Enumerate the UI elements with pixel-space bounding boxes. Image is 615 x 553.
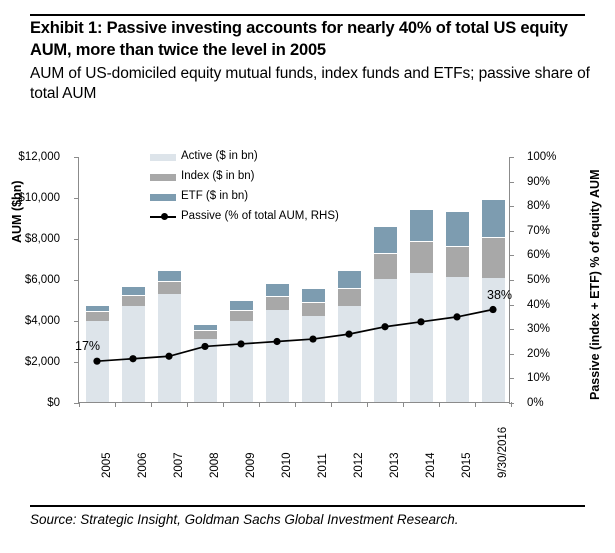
passive-line-marker[interactable] xyxy=(381,323,388,330)
y-axis-right: 100%90%80%70%60%50%40%30%20%10%0% xyxy=(517,157,577,403)
passive-value-label: 17% xyxy=(75,339,100,353)
x-axis-tick xyxy=(511,402,512,407)
passive-line-series xyxy=(79,157,511,403)
x-axis-tick-label: 2005 xyxy=(101,452,113,478)
exhibit-figure: Exhibit 1: Passive investing accounts fo… xyxy=(0,0,615,553)
passive-value-label: 38% xyxy=(487,288,512,302)
y-axis-right-title: Passive (index + ETF) % of equity AUM xyxy=(588,170,602,401)
plot-area: 17%38% xyxy=(78,157,510,403)
source-note: Source: Strategic Insight, Goldman Sachs… xyxy=(30,512,458,527)
x-axis-tick-label: 2013 xyxy=(389,452,401,478)
y-axis-right-tick xyxy=(509,305,514,306)
x-axis-tick-label: 2010 xyxy=(281,452,293,478)
y-axis-right-tick-label: 90% xyxy=(527,176,550,188)
passive-line-marker[interactable] xyxy=(129,355,136,362)
y-axis-left-tick-label: $6,000 xyxy=(25,274,60,286)
passive-line-marker[interactable] xyxy=(93,358,100,365)
legend-label: ETF ($ in bn) xyxy=(181,188,248,205)
legend-label: Passive (% of total AUM, RHS) xyxy=(181,208,339,225)
y-axis-right-tick-label: 30% xyxy=(527,323,550,335)
x-axis-tick-label: 2011 xyxy=(317,453,329,478)
y-axis-right-tick-label: 20% xyxy=(527,348,550,360)
y-axis-left-tick xyxy=(74,321,79,322)
legend-swatch-icon xyxy=(150,174,176,181)
passive-line-marker[interactable] xyxy=(201,343,208,350)
y-axis-left-tick xyxy=(74,157,79,158)
x-axis-tick-label: 2015 xyxy=(461,452,473,478)
y-axis-left-tick-label: $2,000 xyxy=(25,356,60,368)
legend-label: Index ($ in bn) xyxy=(181,168,255,185)
x-axis-tick-label: 2009 xyxy=(245,452,257,478)
y-axis-left-tick-label: $0 xyxy=(47,397,60,409)
y-axis-right-tick-label: 10% xyxy=(527,372,550,384)
passive-line-marker[interactable] xyxy=(165,353,172,360)
legend-dot-icon xyxy=(161,213,168,220)
y-axis-right-tick-label: 60% xyxy=(527,249,550,261)
passive-line-marker[interactable] xyxy=(309,335,316,342)
passive-line-marker[interactable] xyxy=(237,340,244,347)
y-axis-right-tick xyxy=(509,231,514,232)
y-axis-right-tick-label: 40% xyxy=(527,299,550,311)
y-axis-left-tick-label: $12,000 xyxy=(18,151,60,163)
y-axis-right-tick xyxy=(509,206,514,207)
y-axis-left-tick-label: $4,000 xyxy=(25,315,60,327)
y-axis-left-tick xyxy=(74,280,79,281)
header-block: Exhibit 1: Passive investing accounts fo… xyxy=(30,18,590,104)
y-axis-right-tick-label: 0% xyxy=(527,397,544,409)
y-axis-left-tick xyxy=(74,198,79,199)
passive-line-marker[interactable] xyxy=(453,313,460,320)
y-axis-left-tick xyxy=(74,239,79,240)
passive-line xyxy=(97,310,493,362)
x-axis-tick-label: 2008 xyxy=(209,452,221,478)
y-axis-right-tick-label: 80% xyxy=(527,200,550,212)
y-axis-left-tick xyxy=(74,362,79,363)
page-title: Exhibit 1: Passive investing accounts fo… xyxy=(30,18,590,62)
y-axis-right-tick xyxy=(509,280,514,281)
y-axis-right-tick-label: 100% xyxy=(527,151,556,163)
y-axis-right-tick xyxy=(509,329,514,330)
x-axis-tick-label: 2007 xyxy=(173,452,185,478)
y-axis-right-tick xyxy=(509,378,514,379)
legend-label: Active ($ in bn) xyxy=(181,148,258,165)
passive-line-marker[interactable] xyxy=(345,331,352,338)
y-axis-left-tick-label: $8,000 xyxy=(25,233,60,245)
y-axis-left-title: AUM ($bn) xyxy=(10,181,24,244)
legend-swatch-icon xyxy=(150,194,176,201)
page-subtitle: AUM of US-domiciled equity mutual funds,… xyxy=(30,64,590,104)
passive-line-marker[interactable] xyxy=(489,306,496,313)
y-axis-right-tick-label: 70% xyxy=(527,225,550,237)
passive-line-marker[interactable] xyxy=(273,338,280,345)
y-axis-left-tick-label: $10,000 xyxy=(18,192,60,204)
y-axis-right-tick xyxy=(509,182,514,183)
x-axis-tick-label: 2006 xyxy=(137,452,149,478)
bottom-rule xyxy=(30,505,585,507)
y-axis-right-tick xyxy=(509,157,514,158)
y-axis-right-tick xyxy=(509,354,514,355)
x-axis-tick-label: 2012 xyxy=(353,452,365,478)
x-axis-tick-label: 2014 xyxy=(425,452,437,478)
y-axis-right-tick xyxy=(509,255,514,256)
y-axis-right-tick-label: 50% xyxy=(527,274,550,286)
x-axis-tick-label: 9/30/2016 xyxy=(497,427,509,478)
passive-line-marker[interactable] xyxy=(417,318,424,325)
x-axis-labels: 2005200620072008200920102011201220132014… xyxy=(78,406,510,486)
top-rule xyxy=(30,14,585,16)
legend-swatch-icon xyxy=(150,154,176,161)
